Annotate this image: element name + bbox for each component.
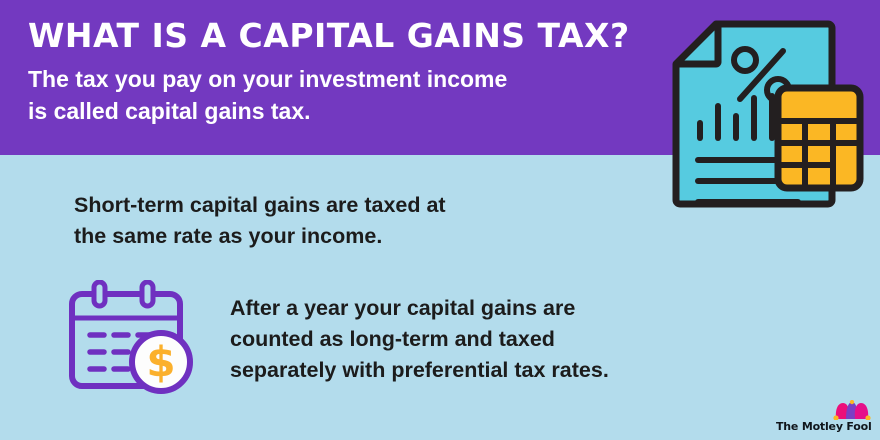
infographic-canvas: WHAT IS A CAPITAL GAINS TAX? The tax you… [0,0,880,440]
long-term-paragraph: After a year your capital gains are coun… [230,293,609,387]
document-with-calculator-icon [668,18,868,213]
logo-text: The Motley Fool [776,420,872,433]
calculator [778,88,860,188]
dollar-symbol: $ [146,338,175,387]
dollar-coin: $ [132,333,190,391]
header-subtitle: The tax you pay on your investment incom… [28,64,507,127]
short-term-paragraph: Short-term capital gains are taxed at th… [74,190,446,252]
motley-fool-logo: The Motley Fool [776,400,872,434]
calculator-body [778,88,860,188]
page-title: WHAT IS A CAPITAL GAINS TAX? [28,18,630,54]
jester-hat-icon [833,400,871,420]
calendar-with-dollar-coin-icon: $ [66,280,196,395]
